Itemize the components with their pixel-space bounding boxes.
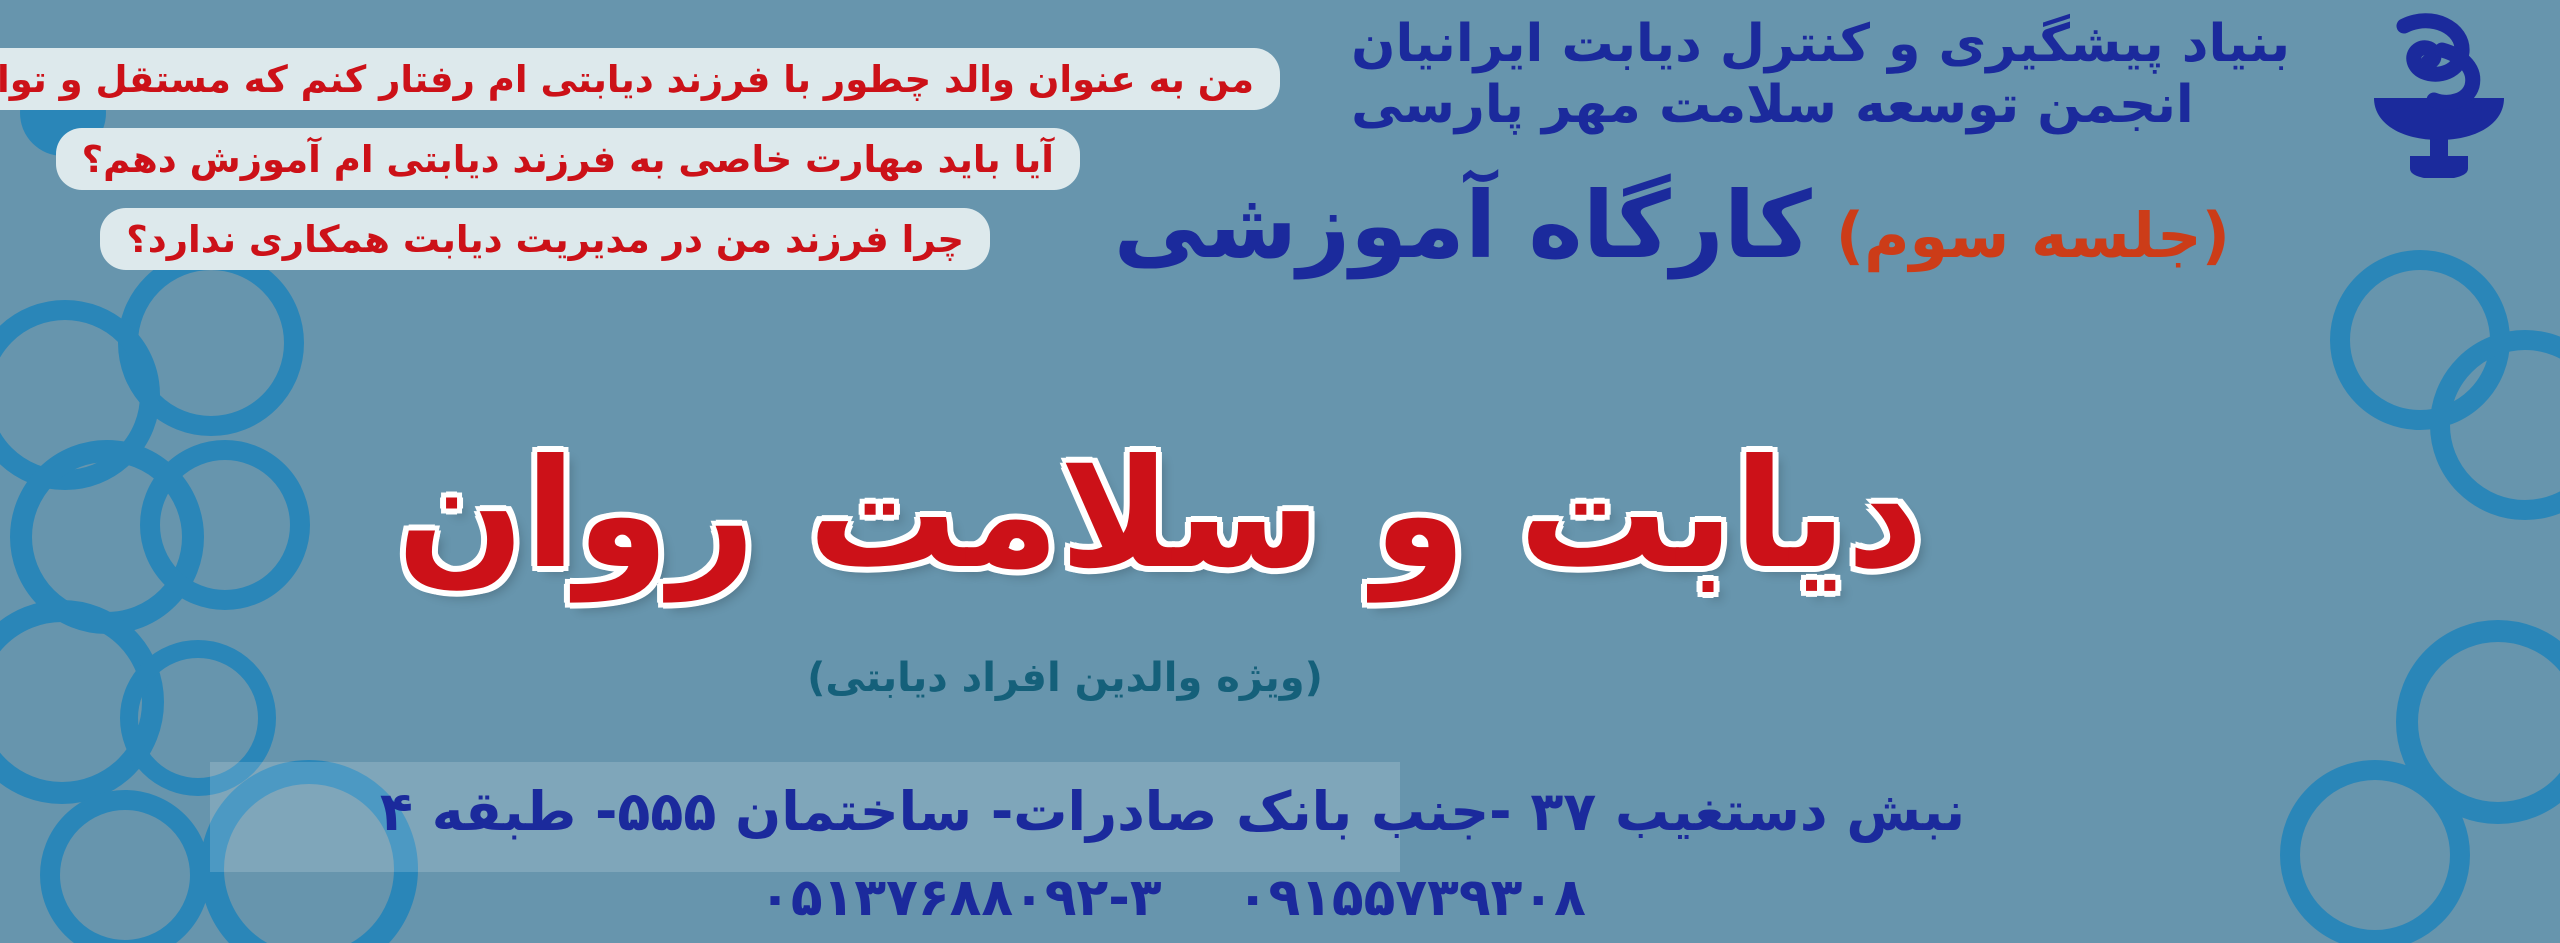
workshop-heading: (جلسه سوم) کارگاه آموزشی <box>1114 180 2230 272</box>
phone-landline: ۰۵۱۳۷۶۸۸۰۹۲-۳ <box>759 868 1161 928</box>
workshop-main-label: کارگاه آموزشی <box>1114 180 1812 272</box>
callout-bubble-3: چرا فرزند من در مدیریت دیابت همکاری ندار… <box>100 208 990 270</box>
poster-subtitle: (ویژه والدین افراد دیابتی) <box>0 655 2560 701</box>
organization-line-1: بنیاد پیشگیری و کنترل دیابت ایرانیان <box>1351 14 2290 75</box>
bubble-ring-5 <box>0 600 164 804</box>
workshop-session-label: (جلسه سوم) <box>1836 205 2230 267</box>
address-text: نبش دستغیب ۳۷ -جنب بانک صادرات- ساختمان … <box>0 780 2560 843</box>
callout-text-3: چرا فرزند من در مدیریت دیابت همکاری ندار… <box>126 218 964 261</box>
callout-text-1: من به عنوان والد چطور با فرزند دیابتی ام… <box>0 58 1254 101</box>
rod-of-asclepius-logo <box>2292 6 2542 186</box>
organization-heading: بنیاد پیشگیری و کنترل دیابت ایرانیان انج… <box>1351 14 2290 137</box>
phone-numbers: ۰۵۱۳۷۶۸۸۰۹۲-۳ ۰۹۱۵۵۷۳۹۳۰۸ <box>0 868 2560 928</box>
organization-line-2: انجمن توسعه سلامت مهر پارسی <box>1351 75 2290 136</box>
bubble-ring-r1 <box>2330 250 2510 430</box>
phone-mobile: ۰۹۱۵۵۷۳۹۳۰۸ <box>1237 868 1586 928</box>
poster-banner: بنیاد پیشگیری و کنترل دیابت ایرانیان انج… <box>0 0 2560 943</box>
callout-text-2: آیا باید مهارت خاصی به فرزند دیابتی ام آ… <box>82 138 1054 181</box>
callout-bubble-2: آیا باید مهارت خاصی به فرزند دیابتی ام آ… <box>56 128 1080 190</box>
bubble-ring-1 <box>118 250 304 436</box>
callout-bubble-1: من به عنوان والد چطور با فرزند دیابتی ام… <box>0 48 1280 110</box>
poster-main-title: دیابت و سلامت روان <box>0 440 2560 590</box>
